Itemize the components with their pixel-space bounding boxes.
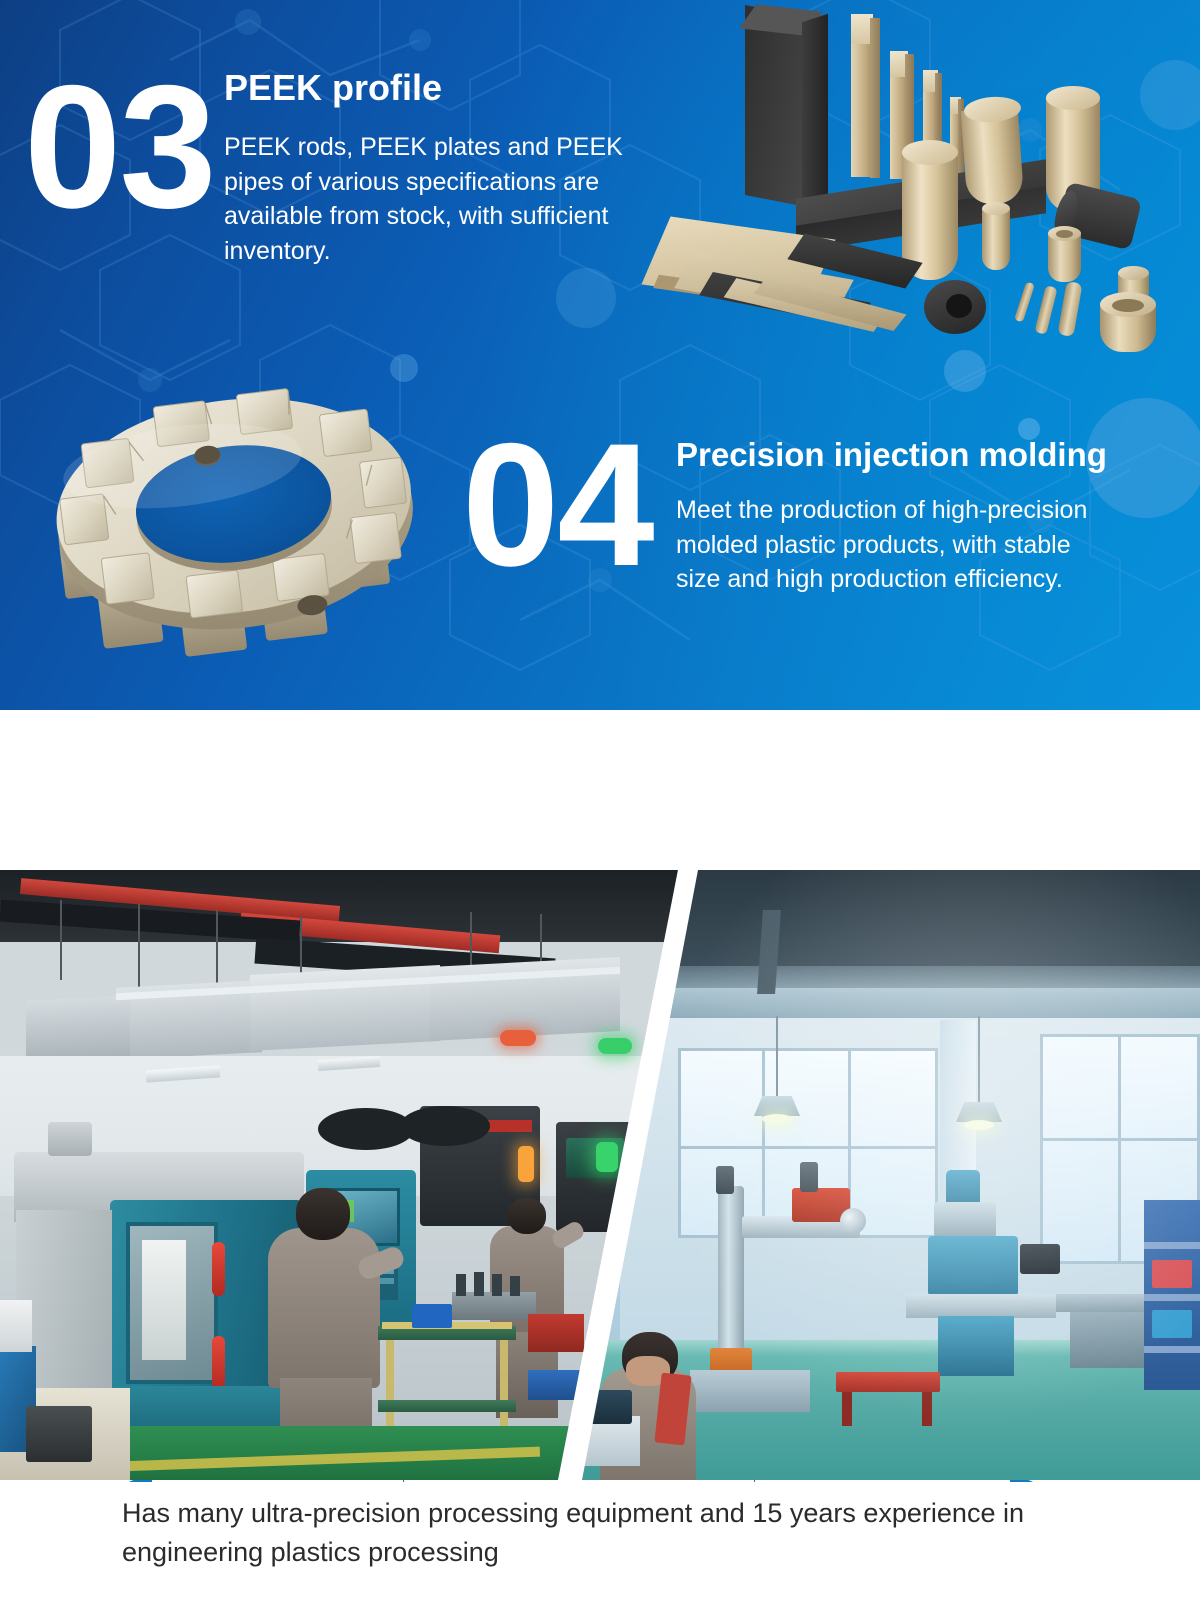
section-number-04: 04 [462,418,653,593]
section-title-04: Precision injection molding [676,437,1107,473]
peek-gear-ring-photo [40,382,430,667]
section-number-03: 03 [24,60,215,235]
hero-panel: 03 PEEK profile PEEK rods, PEEK plates a… [0,0,1200,710]
section-body-03: PEEK rods, PEEK plates and PEEK pipes of… [224,130,649,268]
decor-circle [556,268,616,328]
section-body-04: Meet the production of high-precision mo… [676,493,1108,597]
strengths-banner: Our strengths [0,710,1200,870]
product-marketing-page: 03 PEEK profile PEEK rods, PEEK plates a… [0,0,1200,1612]
factory-photos: 模具车间 Mold Workshop [0,870,1200,1480]
factory-photo-left [0,870,680,1480]
peek-stock-shapes-photo [648,0,1200,364]
section-title-03: PEEK profile [224,68,442,108]
factory-caption: Has many ultra-precision processing equi… [0,1482,1200,1612]
